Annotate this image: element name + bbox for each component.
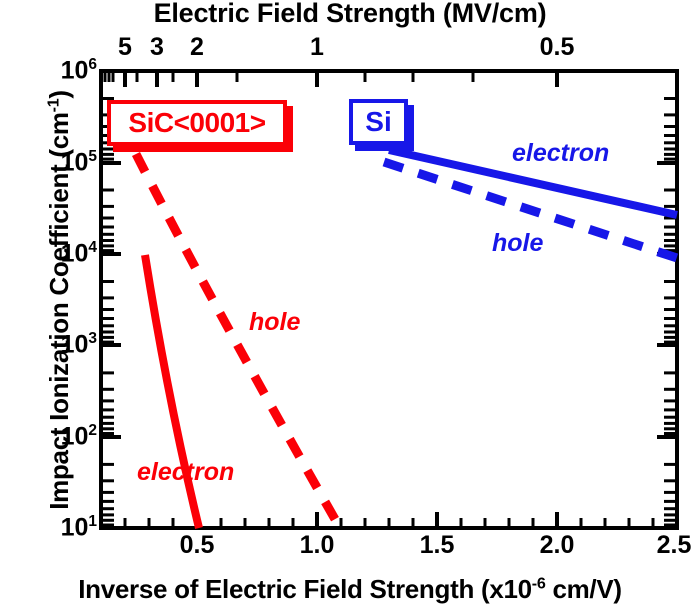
top-tick-label-2: 2 xyxy=(190,33,204,62)
bottom-tick-label-0-5: 0.5 xyxy=(180,531,215,560)
curve-label-si-hole: hole xyxy=(492,229,543,258)
top-tick-label-1: 1 xyxy=(310,33,324,62)
y-axis-title-sup: -1 xyxy=(44,99,62,113)
y-tick-exponent: 3 xyxy=(88,330,97,347)
bottom-tick-label-1-5: 1.5 xyxy=(420,531,455,560)
y-tick-exponent: 5 xyxy=(88,148,97,165)
top-tick-label-3: 3 xyxy=(150,33,164,62)
legend-box-si: Si xyxy=(349,99,408,145)
curve-label-sic-hole: hole xyxy=(249,308,300,337)
bottom-tick-label-1-0: 1.0 xyxy=(300,531,335,560)
bottom-axis-title-pre: Inverse of Electric Field Strength (x10 xyxy=(78,574,532,604)
top-tick-label-5: 5 xyxy=(118,33,132,62)
bottom-axis-title-post: cm/V) xyxy=(546,574,622,604)
legend-box-sic: SiC<0001> xyxy=(107,100,287,146)
chart-figure: Electric Field Strength (MV/cm) 5 3 2 1 … xyxy=(0,0,700,614)
top-axis-title: Electric Field Strength (MV/cm) xyxy=(0,0,700,29)
curve-label-sic-electron: electron xyxy=(137,458,234,487)
bottom-tick-label-2-5: 2.5 xyxy=(657,531,692,560)
bottom-axis-title-sup: -6 xyxy=(532,574,546,592)
top-tick-label-0-5: 0.5 xyxy=(540,33,575,62)
y-axis-title-post: ) xyxy=(44,90,74,98)
y-tick-exponent: 2 xyxy=(88,422,97,439)
bottom-tick-label-2-0: 2.0 xyxy=(540,531,575,560)
bottom-axis-title: Inverse of Electric Field Strength (x10-… xyxy=(0,574,700,605)
curve-label-si-electron: electron xyxy=(512,139,609,168)
y-tick-exponent: 6 xyxy=(88,56,97,73)
plot-canvas xyxy=(0,0,700,614)
y-axis-title: Impact Ionization Coefficient (cm-1) xyxy=(44,50,75,550)
y-tick-exponent: 1 xyxy=(88,513,97,530)
y-axis-title-pre: Impact Ionization Coefficient (cm xyxy=(44,112,74,509)
y-tick-exponent: 4 xyxy=(88,239,97,256)
